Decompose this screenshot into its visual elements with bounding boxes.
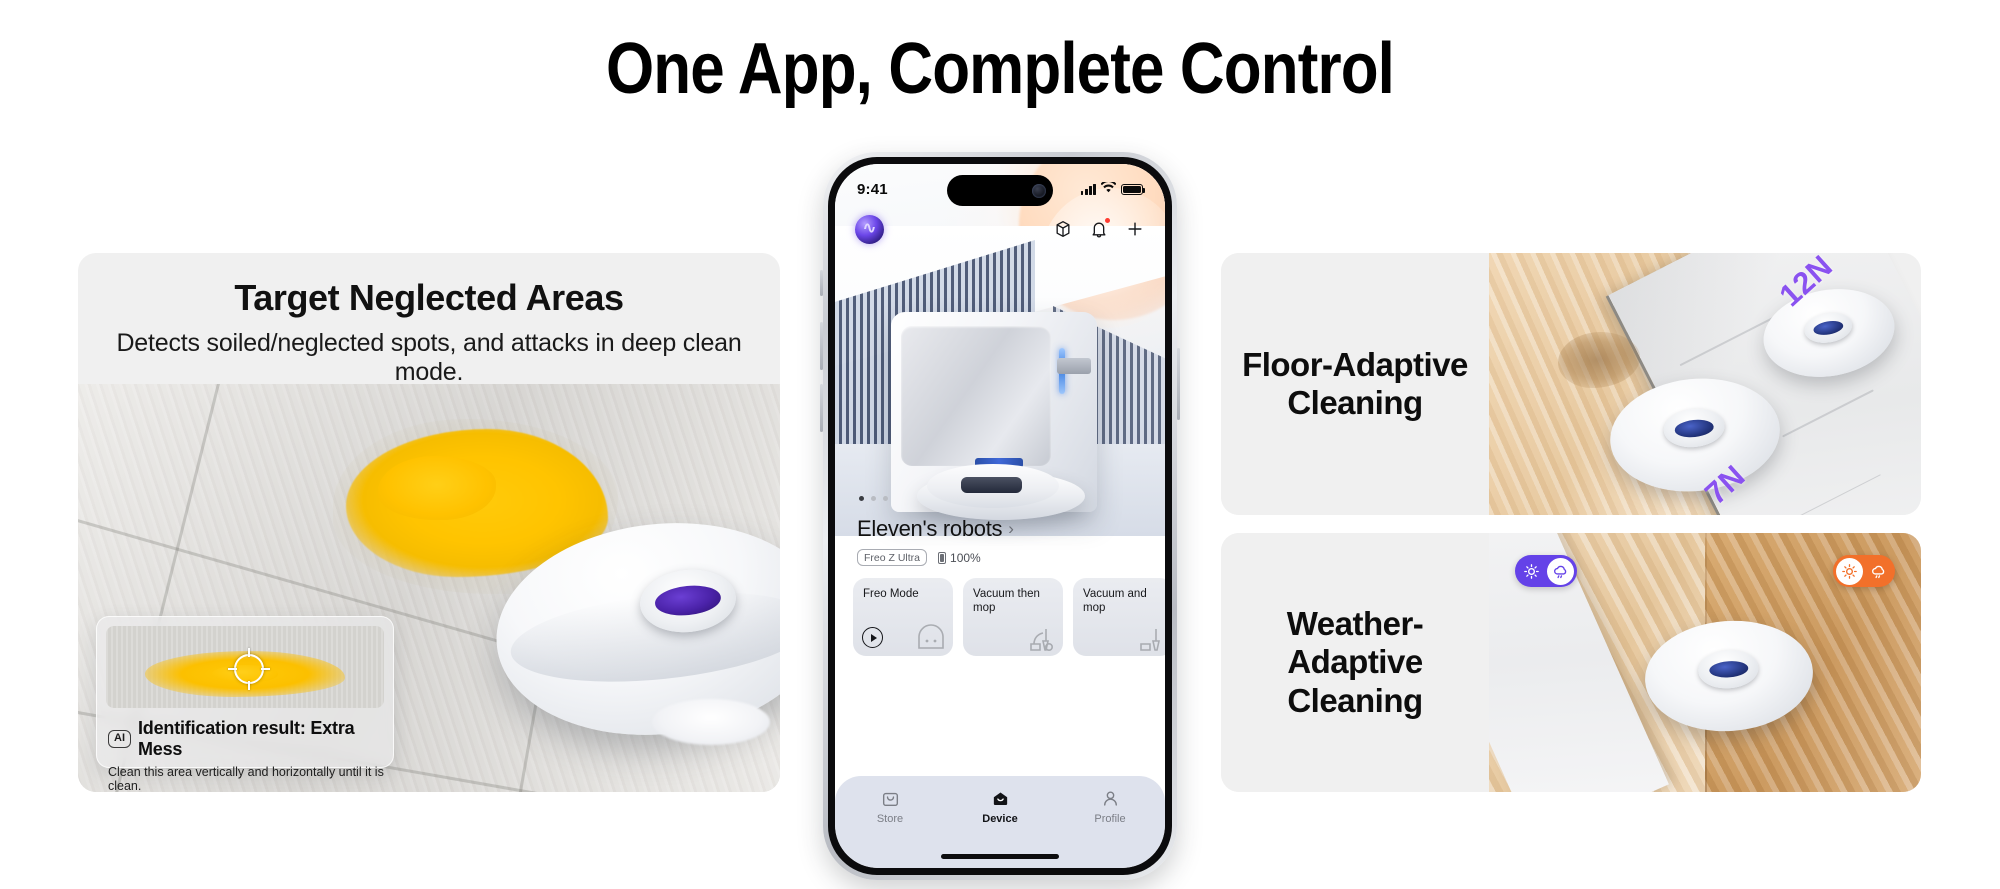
- device-info: Eleven's robots › Freo Z Ultra 100%: [857, 516, 1145, 566]
- tab-label: Profile: [1094, 813, 1125, 825]
- volume-up-button[interactable]: [820, 322, 823, 370]
- battery-icon: [938, 552, 946, 564]
- phone-mockup: 9:41 ∿: [823, 152, 1177, 880]
- page-title: One App, Complete Control: [140, 28, 1860, 110]
- weather-card-title-line2: Adaptive: [1287, 643, 1422, 680]
- target-neglected-areas-card: Target Neglected Areas Detects soiled/ne…: [78, 253, 780, 792]
- brand-orb-icon[interactable]: ∿: [855, 215, 884, 244]
- tab-list: Store Device: [835, 788, 1165, 825]
- carousel-dot[interactable]: [883, 496, 888, 501]
- power-button[interactable]: [1177, 348, 1180, 420]
- tab-label: Device: [982, 813, 1017, 825]
- bottom-tab-bar: Store Device: [835, 776, 1165, 868]
- floor-adaptive-cleaning-card: Floor-Adaptive Cleaning 12N 7N: [1221, 253, 1921, 515]
- robot-lidar-turret: [1802, 309, 1854, 346]
- humid-mode-toggle[interactable]: [1515, 555, 1577, 587]
- wifi-icon: [1101, 180, 1116, 198]
- tab-profile[interactable]: Profile: [1068, 788, 1152, 825]
- store-bag-icon: [880, 788, 901, 809]
- status-time: 9:41: [857, 181, 888, 198]
- notification-badge-dot: [1105, 218, 1110, 223]
- device-name-row[interactable]: Eleven's robots ›: [857, 516, 1145, 542]
- front-camera-icon: [1032, 184, 1046, 198]
- egg-yolk: [378, 456, 496, 520]
- dynamic-island: [947, 175, 1053, 206]
- device-battery: 100%: [938, 551, 981, 565]
- crosshair-icon: [234, 654, 264, 684]
- cleaning-modes-row: Freo Mode Vacuum then mop Vacuum and: [853, 578, 1165, 656]
- rain-cloud-icon[interactable]: [1865, 558, 1892, 585]
- mode-card-freo[interactable]: Freo Mode: [853, 578, 953, 656]
- device-model-badge: Freo Z Ultra: [857, 549, 927, 566]
- weather-card-title-line3: Cleaning: [1287, 682, 1422, 719]
- app-header-actions: [1053, 219, 1145, 239]
- dock-vent: [1057, 358, 1091, 374]
- profile-person-icon: [1100, 788, 1121, 809]
- mode-card-vacuum-then-mop[interactable]: Vacuum then mop: [963, 578, 1063, 656]
- tab-device[interactable]: Device: [958, 788, 1042, 825]
- floor-adaptive-photo: 12N 7N: [1489, 253, 1921, 515]
- docked-robot: [927, 464, 1059, 508]
- ai-result-row: AI Identification result: Extra Mess: [106, 718, 384, 760]
- sun-icon[interactable]: [1836, 558, 1863, 585]
- robot-mop-pad: [652, 699, 770, 745]
- cellular-signal-icon: [1081, 184, 1096, 195]
- tab-store[interactable]: Store: [848, 788, 932, 825]
- vacuum-mop-icon: [1025, 622, 1057, 652]
- sun-icon[interactable]: [1518, 558, 1545, 585]
- rain-cloud-icon[interactable]: [1547, 558, 1574, 585]
- home-indicator[interactable]: [941, 854, 1059, 859]
- cube-icon[interactable]: [1053, 219, 1073, 239]
- ai-identification-panel: AI Identification result: Extra Mess Cle…: [96, 616, 394, 768]
- weather-card-title-line1: Weather-: [1287, 605, 1424, 642]
- ai-badge: AI: [108, 730, 131, 748]
- carousel-dot[interactable]: [871, 496, 876, 501]
- floor-card-title: Floor-Adaptive Cleaning: [1242, 346, 1468, 423]
- app-header: ∿: [835, 208, 1165, 250]
- dry-mode-toggle[interactable]: [1833, 555, 1895, 587]
- mode-label: Vacuum and mop: [1083, 587, 1163, 616]
- battery-full-icon: [1121, 184, 1143, 195]
- volume-down-button[interactable]: [820, 384, 823, 432]
- dock-station-render: [891, 312, 1097, 512]
- ai-result-text: Identification result: Extra Mess: [138, 718, 384, 760]
- robot-face-icon: [915, 622, 947, 652]
- play-icon[interactable]: [862, 627, 883, 648]
- tab-label: Store: [877, 813, 903, 825]
- left-card-title: Target Neglected Areas: [96, 277, 762, 319]
- page-root: One App, Complete Control Target Neglect…: [0, 0, 2000, 889]
- phone-screen: 9:41 ∿: [835, 164, 1165, 868]
- carousel-dots[interactable]: [859, 496, 888, 501]
- left-card-subtitle: Detects soiled/neglected spots, and atta…: [96, 329, 762, 387]
- ai-note-text: Clean this area vertically and horizonta…: [106, 765, 384, 792]
- mode-card-vacuum-and-mop[interactable]: Vacuum and mop: [1073, 578, 1165, 656]
- mop-icon: [1135, 622, 1165, 652]
- dock-front-panel: [901, 326, 1051, 466]
- phone-bezel: 9:41 ∿: [828, 157, 1172, 875]
- mute-switch[interactable]: [820, 270, 823, 296]
- robot-lidar-turret: [1662, 406, 1727, 450]
- ai-detection-thumbnail: [106, 626, 384, 708]
- weather-adaptive-cleaning-card: Weather- Adaptive Cleaning: [1221, 533, 1921, 792]
- chevron-right-icon: ›: [1008, 519, 1013, 539]
- floor-card-text: Floor-Adaptive Cleaning: [1221, 253, 1489, 515]
- robot-lidar-turret: [1697, 649, 1760, 691]
- mode-label: Freo Mode: [863, 587, 943, 601]
- weather-card-text: Weather- Adaptive Cleaning: [1221, 533, 1489, 792]
- bell-icon[interactable]: [1089, 219, 1109, 239]
- floor-card-title-line1: Floor-Adaptive: [1242, 346, 1468, 383]
- device-battery-value: 100%: [950, 551, 981, 565]
- device-meta: Freo Z Ultra 100%: [857, 549, 1145, 566]
- plus-icon[interactable]: [1125, 219, 1145, 239]
- status-icons: [1081, 180, 1143, 198]
- weather-card-title: Weather- Adaptive Cleaning: [1287, 605, 1424, 720]
- neglected-area-photo: AI Identification result: Extra Mess Cle…: [78, 384, 780, 792]
- weather-adaptive-photo: [1489, 533, 1921, 792]
- device-name: Eleven's robots: [857, 516, 1002, 542]
- mode-label: Vacuum then mop: [973, 587, 1053, 616]
- device-home-icon: [990, 788, 1011, 809]
- floor-card-title-line2: Cleaning: [1287, 384, 1422, 421]
- carousel-dot[interactable]: [859, 496, 864, 501]
